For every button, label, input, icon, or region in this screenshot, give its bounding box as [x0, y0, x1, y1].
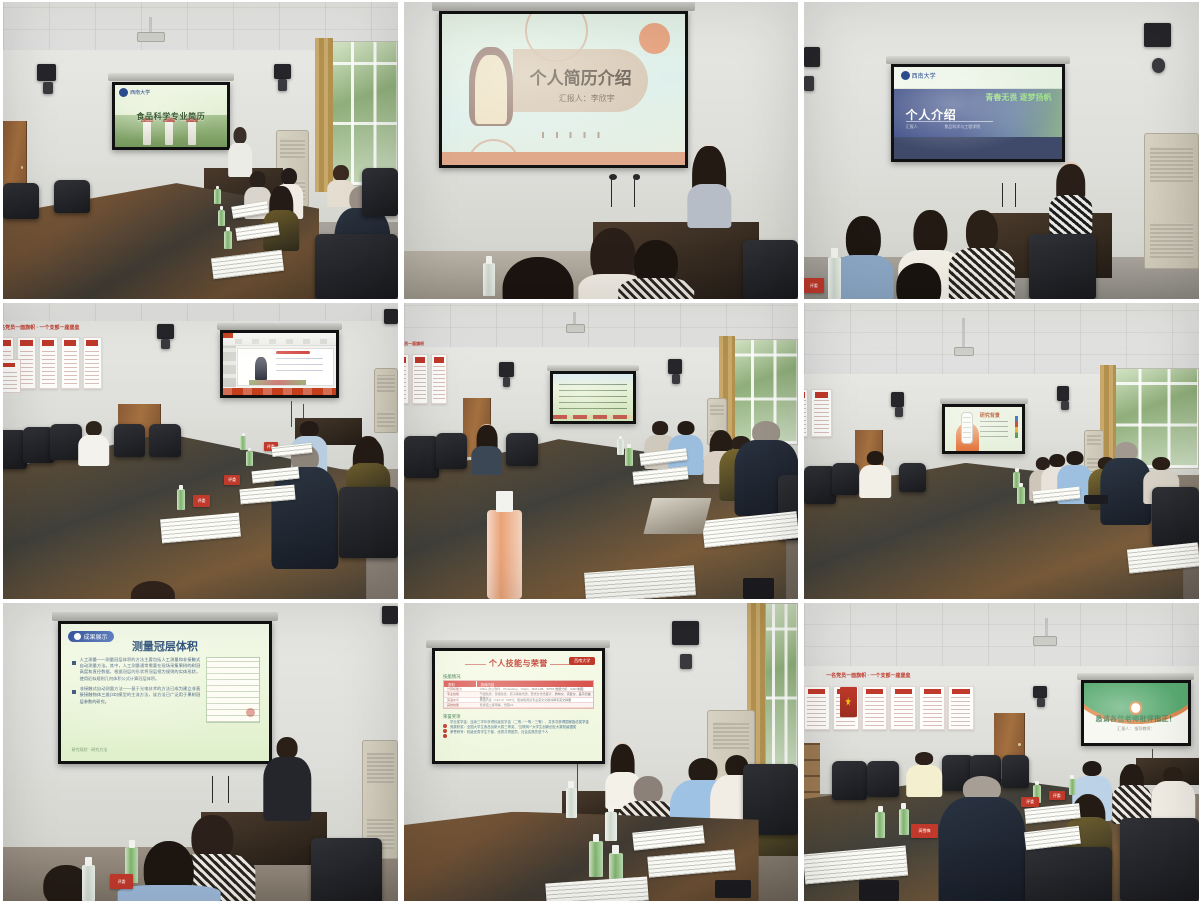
water-bottle-icon — [589, 841, 602, 877]
projection-screen: 研究背景 — [942, 404, 1025, 454]
chair — [436, 433, 468, 469]
table-cell: 普通话二级甲等、驾照C1 — [477, 703, 593, 707]
chair — [1025, 847, 1112, 901]
table-cell: 气相色谱、液相色谱、原子吸收光谱、荧光分光光度计、质构仪、流变仪、差示扫描量热仪 — [477, 692, 593, 696]
presenter — [264, 737, 311, 820]
wall-card — [804, 686, 830, 731]
projector-icon — [137, 32, 165, 42]
table-cell: 计算机能力 — [444, 687, 477, 691]
water-bottle-icon — [240, 436, 246, 449]
projection-screen: 恳请各位老师批评指正！ 汇报人： 指导教师： — [1081, 680, 1192, 746]
water-bottle-icon — [566, 788, 578, 818]
speaker-icon — [804, 47, 820, 68]
collage-cell-5[interactable]: 一名党员一面旗帜 — [401, 301, 801, 601]
collage-cell-4[interactable]: 一名党员一面旗帜 · 一个支部一座堡垒 — [0, 301, 401, 601]
wall-card — [404, 354, 409, 404]
photo-middle-left: 一名党员一面旗帜 · 一个支部一座堡垒 — [3, 303, 398, 599]
speaker-icon — [668, 359, 682, 374]
slide-title: 个人简历介绍 — [530, 64, 632, 89]
water-bottle-icon — [625, 448, 633, 466]
collage-cell-6[interactable]: 研究背景 — [801, 301, 1202, 601]
table-cell: 英语水平 — [444, 698, 477, 702]
water-bottle-icon — [828, 257, 841, 299]
slide-bullet-list: 人工测量——测量冠层体积的方法主要包括人工测量和非接触式自动测量方法。其中，人工… — [72, 657, 201, 709]
presenter — [1049, 162, 1092, 233]
speaker-icon — [278, 79, 287, 91]
projection-screen: 个人简历介绍 汇报人：李欣宇 — [439, 11, 687, 168]
speaker-icon — [891, 392, 904, 407]
wall-card — [412, 354, 428, 404]
water-bottle-icon — [605, 812, 617, 842]
projection-screen: 个人技能与荣誉 西南大学 技能情况 类别 具体内容 计算机能力 Office 办… — [432, 648, 605, 764]
table-cell: Office 办公软件、Photoshop、Origin、MATLAB、SPSS… — [477, 687, 593, 691]
presenter — [688, 145, 731, 228]
attendee — [887, 263, 950, 299]
water-bottle-icon — [1017, 487, 1025, 505]
attendee — [938, 776, 1025, 901]
chair — [149, 424, 181, 457]
speaker-icon — [680, 654, 692, 669]
water-bottle-icon — [487, 510, 522, 599]
university-logo-label: 西南大学 — [130, 89, 150, 96]
university-logo-label: 西南大学 — [912, 71, 936, 80]
chair — [1152, 487, 1199, 546]
phone-icon — [859, 880, 899, 901]
water-bottle-icon — [218, 210, 225, 226]
speaker-icon — [1033, 686, 1046, 698]
microphone-icon — [212, 776, 213, 803]
university-logo: 西南大学 — [119, 88, 150, 97]
name-plate-icon: 高雪梅 — [911, 824, 939, 839]
phone-icon — [743, 578, 775, 599]
chair — [339, 487, 398, 558]
speaker-icon — [161, 339, 170, 349]
speaker-icon — [895, 407, 903, 417]
speaker-icon — [499, 362, 515, 377]
speaker-icon — [672, 374, 680, 383]
table-cell: 专业技能 — [444, 692, 477, 696]
wall-card-list — [804, 686, 974, 740]
chair — [1029, 234, 1096, 299]
chair — [867, 761, 899, 797]
speaker-icon — [672, 621, 700, 645]
name-plate-icon: 评委 — [804, 278, 824, 293]
slide-section-1: 技能情况 — [443, 674, 461, 680]
wall-card — [804, 389, 808, 437]
window — [327, 41, 398, 187]
water-bottle-icon — [899, 809, 909, 836]
chair — [311, 838, 382, 901]
attendee — [272, 445, 339, 569]
slide-section-2: 荣誉奖项 — [443, 714, 461, 720]
name-plate-icon: 评委 — [1021, 797, 1039, 807]
wall-banner: 一名党员一面旗帜 — [404, 341, 447, 347]
chair — [315, 234, 398, 299]
phone-icon — [715, 880, 750, 898]
speaker-icon — [384, 309, 398, 324]
speaker-icon — [1144, 23, 1172, 47]
speaker-icon — [43, 82, 53, 94]
chair — [54, 180, 90, 213]
microphone-icon — [1002, 183, 1003, 207]
attendee — [78, 421, 110, 465]
projection-screen: 西南大学 青春无畏 逐梦扬帆 个人介绍 汇报人 食品科学与工程学院 — [891, 64, 1065, 162]
slide-results: 成果展示 测量冠层体积 人工测量——测量冠层体积的方法主要包括人工测量和非接触式… — [61, 624, 268, 761]
university-logo: 西南大学 — [901, 71, 936, 80]
speaker-icon — [1061, 401, 1069, 410]
chair — [899, 463, 927, 493]
attendee — [471, 424, 503, 474]
slide-resume-title: 个人简历介绍 汇报人：李欣宇 — [442, 14, 684, 165]
projector-icon — [1033, 636, 1057, 646]
slide-title-campus: 西南大学 食品科学专业简历 — [115, 85, 228, 147]
slide-thank-you: 恳请各位老师批评指正！ 汇报人： 指导教师： — [1084, 683, 1189, 743]
photo-bottom-right: 一名党员一面旗帜 · 一个支部一座堡垒 恳请各位 — [804, 603, 1199, 901]
projector-icon — [566, 324, 586, 333]
slide-mobile-app: 研究背景 — [945, 407, 1022, 451]
photo-top-center: 个人简历介绍 汇报人：李欣宇 — [404, 2, 798, 299]
projection-screen: 成果展示 测量冠层体积 人工测量——测量冠层体积的方法主要包括人工测量和非接触式… — [58, 621, 271, 764]
collage-cell-2[interactable]: 个人简历介绍 汇报人：李欣宇 — [401, 0, 801, 301]
water-bottle-icon — [82, 865, 95, 901]
slide-footnote: 研究现状 · 研究方法 — [72, 747, 108, 753]
honours-list: 学业奖学金：连续三学年获得校级奖学金（二等／一等／三等），并多次获得国家励志奖学… — [443, 720, 594, 735]
screen-stand — [577, 764, 578, 794]
microphone-icon — [611, 177, 612, 207]
party-culture-wall: 一名党员一面旗帜 · 一个支部一座堡垒 — [804, 672, 974, 744]
attendee — [499, 257, 578, 299]
laptop-icon — [644, 498, 712, 534]
water-bottle-icon — [1069, 779, 1076, 795]
name-plate-icon: 评委 — [1049, 791, 1065, 801]
collage-cell-3[interactable]: 西南大学 青春无畏 逐梦扬帆 个人介绍 汇报人 食品科学与工程学院 — [801, 0, 1202, 301]
photo-bottom-left: 成果展示 测量冠层体积 人工测量——测量冠层体积的方法主要包括人工测量和非接触式… — [3, 603, 398, 901]
wall-card-list — [404, 354, 447, 415]
projection-screen: 西南大学 食品科学专业简历 — [112, 82, 231, 150]
attendee — [625, 240, 688, 299]
speaker-icon — [503, 377, 511, 387]
chair — [1120, 818, 1199, 901]
speaker-icon — [804, 76, 814, 91]
slide-powerpoint-editor — [223, 333, 336, 395]
water-bottle-icon — [177, 489, 186, 510]
slide-text-content — [553, 374, 634, 421]
speaker-icon — [1057, 386, 1070, 401]
attendee — [836, 216, 891, 299]
name-plate-icon: 评委 — [193, 495, 211, 506]
wall-banner: 一名党员一面旗帜 · 一个支部一座堡垒 — [826, 672, 996, 679]
presenter — [228, 127, 252, 177]
chair — [3, 183, 39, 219]
slide-presenter: 汇报人：李欣宇 — [559, 93, 615, 104]
slide-self-intro: 西南大学 青春无畏 逐梦扬帆 个人介绍 汇报人 食品科学与工程学院 — [894, 67, 1062, 159]
slide-sub-right: 食品科学与工程学院 — [944, 124, 980, 130]
party-culture-wall: 一名党员一面旗帜 · 一个支部一座堡垒 — [3, 324, 102, 407]
water-bottle-icon — [224, 231, 232, 249]
phone-icon — [1084, 495, 1108, 504]
water-bottle-icon — [246, 451, 253, 466]
attendee — [954, 210, 1009, 299]
chair — [114, 424, 146, 457]
slide-title: 恳请各位老师批评指正！ — [1084, 714, 1189, 724]
attendee — [907, 752, 943, 797]
projection-screen — [550, 371, 637, 424]
attendee — [125, 581, 180, 599]
wall-card — [948, 686, 974, 731]
air-conditioner-icon — [1144, 133, 1199, 270]
party-culture-wall — [804, 377, 832, 454]
chair — [832, 463, 860, 496]
attendee — [264, 186, 300, 251]
table-cell: 英语六级（CET-6）528分，能熟练阅读专业英文文献并撰写英文摘要 — [477, 698, 593, 702]
wall-card — [431, 354, 447, 404]
honour-item: 荣誉称号：校级优秀学生干部、优秀共青团员、社会实践先进个人 — [443, 730, 594, 735]
chair — [506, 433, 538, 466]
water-bottle-icon — [617, 439, 624, 455]
university-emblem-icon — [1129, 701, 1143, 715]
slide-sub-left: 汇报人 — [906, 124, 918, 130]
certificate-image — [206, 657, 260, 723]
wall-banner: 一名党员一面旗帜 · 一个支部一座堡垒 — [3, 324, 102, 331]
speaker-icon — [274, 64, 291, 79]
wall-card — [39, 337, 58, 389]
skills-table: 类别 具体内容 计算机能力 Office 办公软件、Photoshop、Orig… — [443, 680, 594, 709]
table-cell: 其他技能 — [444, 703, 477, 707]
slide-skills-honours: 个人技能与荣誉 西南大学 技能情况 类别 具体内容 计算机能力 Office 办… — [435, 651, 602, 761]
photo-middle-center: 一名党员一面旗帜 — [404, 303, 798, 599]
slide-subtitle: 汇报人： 指导教师： — [1084, 726, 1189, 732]
slide-bullet: 非接触式自动测量方法——基于光电技术的方法已成为建立非直接接触物体三维(3D)模… — [72, 686, 201, 705]
microphone-icon — [634, 177, 635, 207]
speaker-icon — [157, 324, 174, 339]
chair — [362, 168, 398, 216]
speaker-icon — [37, 64, 57, 80]
slide-title: 测量冠层体积 — [61, 638, 268, 654]
air-conditioner-icon — [374, 368, 398, 433]
wall-card — [890, 686, 916, 731]
chair — [832, 761, 868, 800]
microphone-icon — [228, 776, 229, 803]
name-plate-icon: 评委 — [110, 874, 134, 889]
party-culture-wall: 一名党员一面旗帜 — [404, 341, 447, 421]
photo-collage-grid: 西南大学 食品科学专业简历 — [0, 0, 1202, 903]
speaker-icon — [382, 606, 398, 624]
wall-card — [919, 686, 945, 731]
university-logo-label: 西南大学 — [569, 657, 595, 665]
projector-icon — [954, 347, 974, 356]
water-bottle-icon — [483, 263, 495, 296]
speaker-icon — [1037, 698, 1045, 707]
microphone-icon — [1015, 183, 1016, 207]
water-bottle-icon — [875, 812, 885, 839]
attendee — [859, 451, 891, 498]
collage-cell-1[interactable]: 西南大学 食品科学专业简历 — [0, 0, 401, 301]
name-plate-icon: 评委 — [224, 475, 240, 485]
wall-card-list — [804, 389, 832, 447]
attendee — [1112, 764, 1152, 824]
collage-cell-9[interactable]: 一名党员一面旗帜 · 一个支部一座堡垒 恳请各位 — [801, 601, 1202, 903]
slide-bullet: 人工测量——测量冠层体积的方法主要包括人工测量和非接触式自动测量方法。其中，人工… — [72, 657, 201, 682]
chair — [743, 240, 798, 299]
chair — [804, 466, 836, 504]
collage-cell-8[interactable]: 个人技能与荣誉 西南大学 技能情况 类别 具体内容 计算机能力 Office 办… — [401, 601, 801, 903]
slide-side-text: 青春无畏 逐梦扬帆 — [985, 93, 1051, 102]
chair — [404, 436, 439, 477]
attendee — [129, 841, 208, 901]
collage-cell-7[interactable]: 成果展示 测量冠层体积 人工测量——测量冠层体积的方法主要包括人工测量和非接触式… — [0, 601, 401, 903]
photo-top-left: 西南大学 食品科学专业简历 — [3, 2, 398, 299]
photo-middle-right: 研究背景 — [804, 303, 1199, 599]
photo-bottom-center: 个人技能与荣誉 西南大学 技能情况 类别 具体内容 计算机能力 Office 办… — [404, 603, 798, 901]
water-bottle-icon — [214, 189, 220, 204]
projection-screen — [220, 330, 339, 398]
wall-card — [862, 686, 888, 731]
slide-title: 食品科学专业简历 — [136, 111, 205, 122]
wall-card — [83, 337, 102, 389]
photo-top-right: 西南大学 青春无畏 逐梦扬帆 个人介绍 汇报人 食品科学与工程学院 — [804, 2, 1199, 299]
slide-dots — [542, 132, 605, 138]
table-row: 其他技能 普通话二级甲等、驾照C1 — [444, 703, 593, 708]
wall-card — [61, 337, 80, 389]
wall-poster — [3, 359, 21, 394]
wall-card — [811, 389, 831, 437]
